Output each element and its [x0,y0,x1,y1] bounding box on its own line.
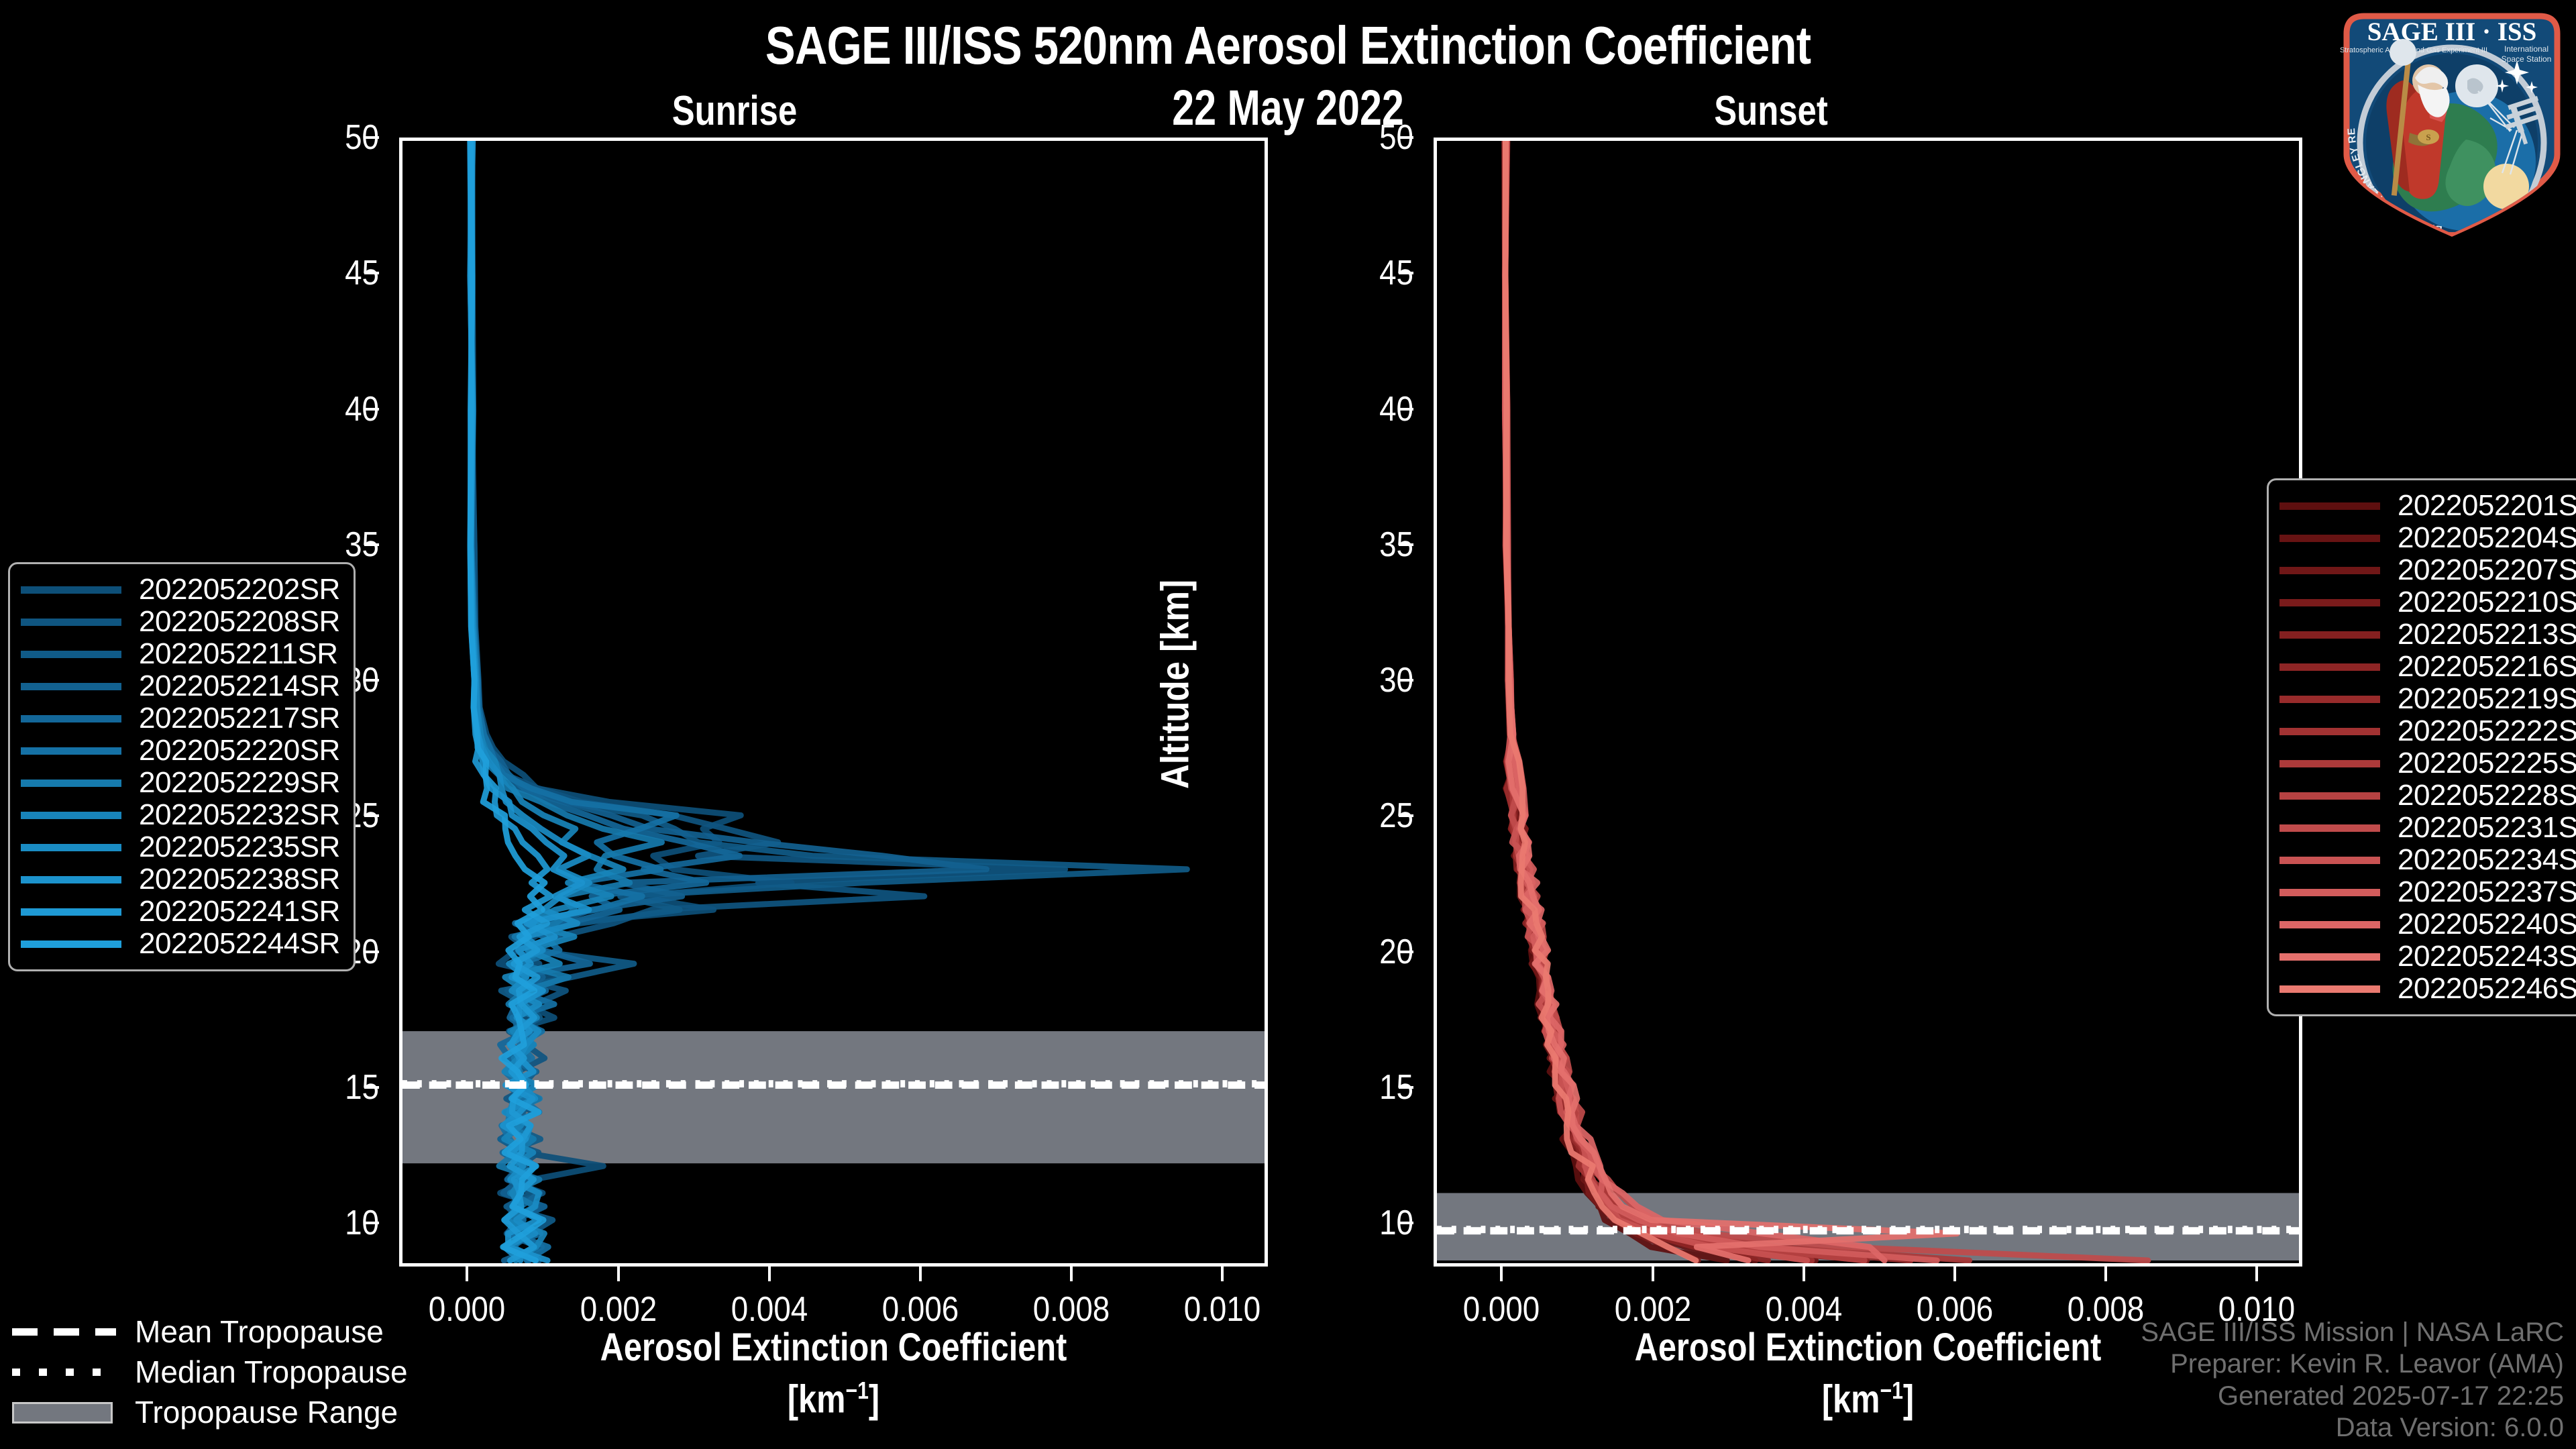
y-axis-tick-mark [1399,272,1413,274]
legend-item[interactable]: 2022052244SR [21,928,340,960]
legend-series-label: 2022052246SS [2398,972,2576,1006]
profile-line [1505,141,2148,1260]
legend-item[interactable]: 2022052232SR [21,799,340,831]
credit-line: Generated 2025-07-17 22:25 [2141,1381,2564,1412]
legend-item[interactable]: 2022052238SR [21,863,340,896]
profile-line [1505,141,1756,1260]
legend-item-mean-tropopause: Mean Tropopause [12,1311,408,1352]
x-axis-tick-label: 0.006 [844,1289,998,1330]
legend-color-swatch [2279,599,2380,606]
legend-series-label: 2022052213SS [2398,618,2576,651]
dotted-line-icon [12,1360,116,1383]
legend-series-label: 2022052210SS [2398,586,2576,619]
x-axis-tick-mark [1652,1267,1654,1281]
y-axis-tick-mark [1399,951,1413,953]
y-axis-tick-mark [364,408,379,411]
profile-line [1505,141,1768,1260]
legend-color-swatch [2279,921,2380,928]
legend-series-label: 2022052208SR [139,605,340,639]
sunrise-x-axis-title: Aerosol Extinction Coefficient [km−1] [469,1325,1199,1421]
page-title: SAGE III/ISS 520nm Aerosol Extinction Co… [206,15,2370,76]
x-axis-unit: [km−1] [1503,1377,2233,1421]
legend-color-swatch [21,908,121,916]
legend-series-label: 2022052207SS [2398,553,2576,587]
legend-color-swatch [2279,824,2380,832]
legend-series-label: 2022052243SS [2398,940,2576,973]
legend-color-swatch [2279,567,2380,574]
legend-item[interactable]: 2022052240SS [2279,908,2576,941]
sunrise-series-legend[interactable]: 2022052202SR2022052208SR2022052211SR2022… [8,562,356,971]
legend-item[interactable]: 2022052216SS [2279,651,2576,683]
legend-item[interactable]: 2022052222SS [2279,715,2576,747]
x-axis-tick-mark [1221,1267,1224,1281]
legend-color-swatch [2279,535,2380,542]
y-axis-tick-mark [364,1222,379,1224]
legend-item[interactable]: 2022052225SS [2279,747,2576,780]
legend-series-label: 2022052240SS [2398,908,2576,941]
x-axis-tick-label: 0.002 [1576,1289,1729,1330]
y-axis-tick-mark [1399,814,1413,817]
y-axis-tick-mark [1399,1222,1413,1224]
legend-item[interactable]: 2022052210SS [2279,586,2576,619]
x-axis-title-text: Aerosol Extinction Coefficient [600,1326,1067,1369]
legend-color-swatch [2279,696,2380,703]
legend-item[interactable]: 2022052213SS [2279,619,2576,651]
legend-series-label: 2022052228SS [2398,779,2576,812]
legend-series-label: 2022052220SR [139,734,340,767]
legend-item[interactable]: 2022052214SR [21,670,340,702]
profile-line [1505,141,1811,1260]
x-axis-tick-label: 0.004 [1727,1289,1880,1330]
legend-series-label: 2022052237SS [2398,875,2576,909]
legend-series-label: 2022052232SR [139,798,340,832]
legend-color-swatch [21,941,121,948]
legend-series-label: 2022052235SR [139,830,340,864]
x-axis-tick-mark [1953,1267,1956,1281]
legend-item[interactable]: 2022052219SS [2279,683,2576,715]
legend-item[interactable]: 2022052211SR [21,638,340,670]
legend-color-swatch [2279,502,2380,510]
legend-color-swatch [2279,953,2380,961]
legend-item[interactable]: 2022052207SS [2279,554,2576,586]
legend-color-swatch [21,619,121,626]
svg-text:S: S [2426,132,2430,142]
y-axis-tick-mark [1399,543,1413,546]
legend-label-range: Tropopause Range [135,1394,398,1430]
x-axis-unit: [km−1] [469,1377,1199,1421]
legend-color-swatch [2279,985,2380,993]
x-axis-tick-label: 0.002 [541,1289,695,1330]
sunrise-panel-title: Sunrise [625,87,845,135]
x-axis-tick-mark [2104,1267,2107,1281]
x-axis-tick-mark [1500,1267,1503,1281]
x-axis-tick-mark [1803,1267,1805,1281]
legend-item[interactable]: 2022052237SS [2279,876,2576,908]
legend-item[interactable]: 2022052208SR [21,606,340,638]
legend-series-label: 2022052214SR [139,669,340,703]
profile-line [1505,141,1815,1260]
x-axis-tick-label: 0.004 [692,1289,846,1330]
legend-color-swatch [2279,857,2380,864]
patch-subtitle-right-2: Space Station [2502,54,2552,64]
patch-subtitle-left: Stratospheric Aerosol and Gas Experiment… [2340,46,2487,54]
legend-item[interactable]: 2022052246SS [2279,973,2576,1005]
credit-line: Preparer: Kevin R. Leavor (AMA) [2141,1348,2564,1380]
sunset-series-legend[interactable]: 2022052201SS2022052204SS2022052207SS2022… [2267,478,2576,1016]
legend-series-label: 2022052201SS [2398,489,2576,523]
legend-item[interactable]: 2022052202SR [21,574,340,606]
date-subtitle: 22 May 2022 [258,79,2318,136]
credit-line: Data Version: 6.0.0 [2141,1412,2564,1444]
legend-label-mean: Mean Tropopause [135,1313,384,1350]
y-axis-tick-mark [364,1086,379,1089]
legend-series-label: 2022052219SS [2398,682,2576,716]
profile-line [1505,141,1727,1260]
y-axis-tick-mark [1399,1086,1413,1089]
profile-line [1505,141,1698,1260]
sunrise-plot-area [399,138,1268,1267]
x-axis-tick-mark [2255,1267,2258,1281]
x-axis-title-text: Aerosol Extinction Coefficient [1635,1326,2102,1369]
x-axis-tick-label: 0.010 [1146,1289,1299,1330]
legend-series-label: 2022052222SS [2398,714,2576,748]
legend-series-label: 2022052229SR [139,766,340,800]
legend-item[interactable]: 2022052234SS [2279,844,2576,876]
x-axis-tick-mark [617,1267,620,1281]
legend-color-swatch [2279,631,2380,639]
legend-series-label: 2022052234SS [2398,843,2576,877]
legend-series-label: 2022052238SR [139,863,340,896]
sage-mission-patch-logo: S BALL · NASA LANGLEY RESEARCH CENTER · … [2334,5,2569,244]
legend-item[interactable]: 2022052220SR [21,735,340,767]
legend-series-label: 2022052241SR [139,895,340,928]
profile-line [1505,141,1696,1260]
legend-color-swatch [21,586,121,594]
legend-series-label: 2022052211SR [139,637,338,671]
legend-series-label: 2022052244SR [139,927,340,961]
legend-color-swatch [2279,728,2380,735]
y-axis-tick-mark [1399,408,1413,411]
sunset-panel-title: Sunset [1661,87,1881,135]
y-axis-tick-mark [364,814,379,817]
legend-series-label: 2022052216SS [2398,650,2576,684]
x-axis-tick-mark [466,1267,468,1281]
x-axis-tick-label: 0.006 [1878,1289,2032,1330]
legend-color-swatch [2279,792,2380,800]
sunrise-profile-curves [402,141,1265,1263]
legend-item[interactable]: 2022052217SR [21,702,340,735]
legend-item[interactable]: 2022052229SR [21,767,340,799]
legend-color-swatch [2279,760,2380,767]
legend-color-swatch [21,747,121,755]
sunset-y-axis-title: Altitude [km] [1153,580,1198,789]
credit-line: SAGE III/ISS Mission | NASA LaRC [2141,1317,2564,1348]
y-axis-tick-mark [364,136,379,139]
legend-color-swatch [21,715,121,722]
y-axis-tick-mark [364,679,379,682]
x-axis-tick-mark [768,1267,771,1281]
x-axis-tick-label: 0.000 [1425,1289,1578,1330]
legend-series-label: 2022052204SS [2398,521,2576,555]
profile-line [1505,141,1957,1260]
legend-color-swatch [21,651,121,658]
legend-color-swatch [2279,889,2380,896]
dashed-line-icon [12,1320,116,1343]
y-axis-tick-mark [1399,136,1413,139]
legend-color-swatch [21,780,121,787]
credits-block: SAGE III/ISS Mission | NASA LaRC Prepare… [2141,1317,2564,1444]
y-axis-tick-mark [364,543,379,546]
legend-series-label: 2022052202SR [139,573,340,606]
legend-item[interactable]: 2022052243SS [2279,941,2576,973]
legend-color-swatch [21,876,121,883]
patch-subtitle-right-1: International [2504,44,2548,54]
legend-item[interactable]: 2022052228SS [2279,780,2576,812]
x-axis-tick-mark [919,1267,922,1281]
legend-color-swatch [21,812,121,819]
y-axis-tick-mark [364,951,379,953]
legend-series-label: 2022052225SS [2398,747,2576,780]
y-axis-tick-mark [364,272,379,274]
sunset-y-axis-ticks: 101520253035404550 [1306,138,1413,1267]
patch-title: SAGE III · ISS [2367,17,2537,46]
legend-color-swatch [21,844,121,851]
x-axis-tick-label: 0.000 [390,1289,544,1330]
filled-box-icon [12,1401,116,1424]
tropopause-legend: Mean Tropopause Median Tropopause Tropop… [12,1311,408,1432]
legend-item[interactable]: 2022052235SR [21,831,340,863]
sunset-x-axis-title: Aerosol Extinction Coefficient [km−1] [1503,1325,2233,1421]
legend-item[interactable]: 2022052231SS [2279,812,2576,844]
legend-series-label: 2022052217SR [139,702,340,735]
legend-series-label: 2022052231SS [2398,811,2576,845]
legend-item[interactable]: 2022052201SS [2279,490,2576,522]
x-axis-tick-label: 0.008 [995,1289,1148,1330]
legend-item[interactable]: 2022052241SR [21,896,340,928]
profile-line [1505,141,1807,1260]
sunset-plot-area [1434,138,2302,1267]
legend-item-median-tropopause: Median Tropopause [12,1352,408,1392]
legend-label-median: Median Tropopause [135,1354,408,1390]
legend-color-swatch [21,683,121,690]
legend-item-tropopause-range: Tropopause Range [12,1392,408,1432]
y-axis-tick-mark [1399,679,1413,682]
sunset-profile-curves [1437,141,2299,1263]
legend-item[interactable]: 2022052204SS [2279,522,2576,554]
legend-color-swatch [2279,663,2380,671]
x-axis-tick-mark [1070,1267,1073,1281]
